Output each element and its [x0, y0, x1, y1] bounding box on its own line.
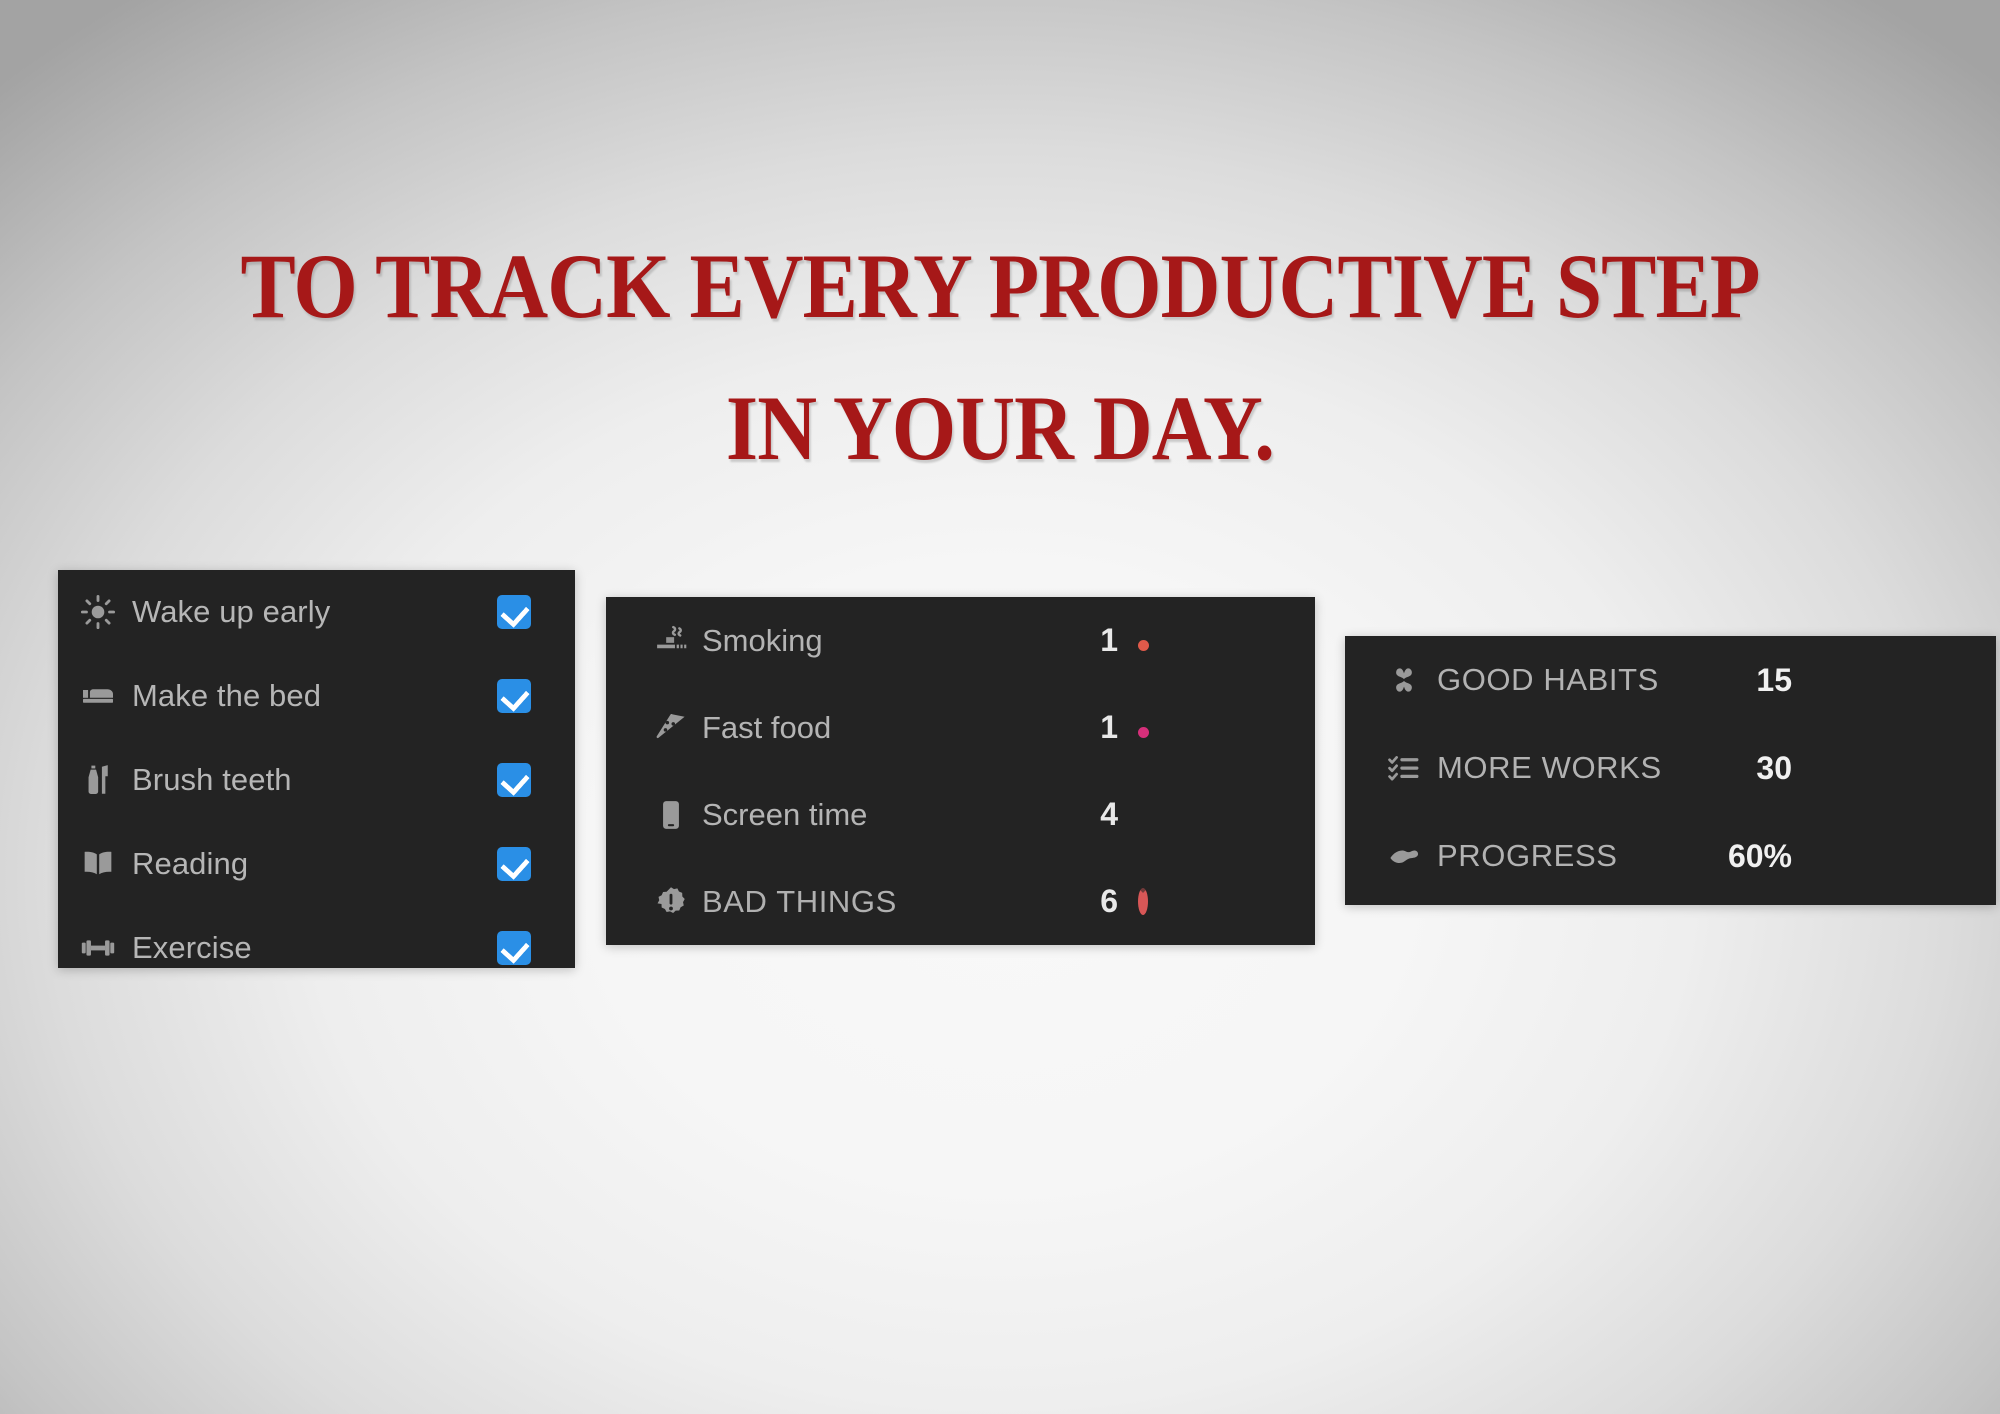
list-item-value: 15: [1704, 662, 1814, 699]
bad-things-card: Smoking 1 Fast food 1: [606, 597, 1315, 945]
checklist-icon: [1387, 751, 1437, 785]
open-book-icon: [80, 846, 132, 882]
clover-icon: [1387, 663, 1437, 697]
list-item-label: Brush teeth: [132, 762, 497, 798]
list-item-label: PROGRESS: [1437, 838, 1704, 874]
page-title-line-1: TO TRACK EVERY PRODUCTIVE STEP: [100, 215, 1900, 357]
list-item[interactable]: Brush teeth: [58, 738, 575, 822]
bad-things-ring-meter[interactable]: [1138, 893, 1255, 911]
list-item-value: 60%: [1704, 838, 1814, 875]
toothbrush-icon: [80, 762, 132, 798]
list-item-value: 4: [1082, 796, 1138, 833]
list-item[interactable]: Fast food 1: [606, 684, 1315, 771]
list-item[interactable]: BAD THINGS 6: [606, 858, 1315, 945]
list-item-value: 30: [1704, 750, 1814, 787]
list-item-value: 6: [1082, 883, 1138, 920]
pizza-icon: [654, 711, 702, 745]
habit-checkbox-wake-up-early[interactable]: [497, 595, 531, 629]
summary-card: GOOD HABITS 15 MO: [1345, 636, 1996, 905]
cigarette-icon: [654, 624, 702, 658]
bed-icon: [80, 678, 132, 714]
dumbbell-icon: [80, 930, 132, 966]
list-item-label: Make the bed: [132, 678, 497, 714]
list-item-value: 1: [1082, 709, 1138, 746]
list-item-label: BAD THINGS: [702, 884, 1082, 920]
list-item-label: MORE WORKS: [1437, 750, 1704, 786]
list-item[interactable]: Make the bed: [58, 654, 575, 738]
habit-checkbox-reading[interactable]: [497, 847, 531, 881]
list-item[interactable]: MORE WORKS 30: [1345, 724, 1996, 812]
page-title: TO TRACK EVERY PRODUCTIVE STEP IN YOUR D…: [0, 215, 2000, 499]
list-item-value: 1: [1082, 622, 1138, 659]
list-item[interactable]: Exercise: [58, 906, 575, 990]
wing-icon: [1387, 839, 1437, 873]
sun-icon: [80, 594, 132, 630]
list-item-label: Screen time: [702, 797, 1082, 833]
list-item-label: GOOD HABITS: [1437, 662, 1704, 698]
list-item-label: Smoking: [702, 623, 1082, 659]
list-item[interactable]: Reading: [58, 822, 575, 906]
warning-icon: [654, 885, 702, 919]
progress-ring: [1138, 888, 1148, 915]
list-item-label: Wake up early: [132, 594, 497, 630]
good-habits-checklist-card: Wake up early Make the bed Brush teeth: [58, 570, 575, 968]
list-item[interactable]: Screen time 4: [606, 771, 1315, 858]
list-item-label: Reading: [132, 846, 497, 882]
habit-checkbox-make-the-bed[interactable]: [497, 679, 531, 713]
habit-checkbox-exercise[interactable]: [497, 931, 531, 965]
list-item[interactable]: Smoking 1: [606, 597, 1315, 684]
page-title-line-2: IN YOUR DAY.: [100, 357, 1900, 499]
list-item-label: Fast food: [702, 710, 1082, 746]
list-item[interactable]: Wake up early: [58, 570, 575, 654]
list-item-label: Exercise: [132, 930, 497, 966]
smartphone-icon: [654, 798, 702, 832]
habit-checkbox-brush-teeth[interactable]: [497, 763, 531, 797]
list-item[interactable]: PROGRESS 60%: [1345, 812, 1996, 900]
list-item[interactable]: GOOD HABITS 15: [1345, 636, 1996, 724]
